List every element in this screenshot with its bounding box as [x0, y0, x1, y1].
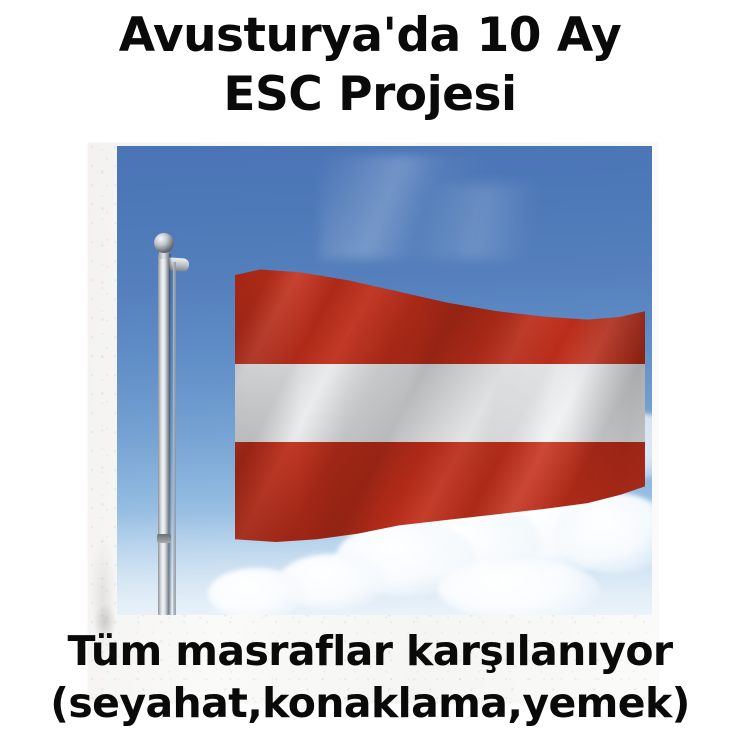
headline: Avusturya'da 10 Ay ESC Projesi [0, 6, 740, 124]
cirrus-cloud [411, 184, 561, 259]
headline-line-2: ESC Projesi [0, 65, 740, 124]
flag-photo [117, 146, 652, 615]
flagpole-halyard [173, 262, 176, 615]
caption: Tüm masraflar karşılanıyor (seyahat,kona… [0, 625, 740, 729]
poster: Avusturya'da 10 Ay ESC Projesi [0, 0, 740, 740]
caption-line-2: (seyahat,konaklama,yemek) [0, 677, 740, 729]
flag-hoist-shadow [235, 264, 301, 542]
flagpole-clip [157, 534, 171, 543]
headline-line-1: Avusturya'da 10 Ay [0, 6, 740, 65]
flagpole [158, 254, 169, 615]
flagpole-finial-ball-icon [154, 233, 174, 253]
caption-line-1: Tüm masraflar karşılanıyor [0, 625, 740, 677]
flagpole-shadow [169, 254, 172, 615]
